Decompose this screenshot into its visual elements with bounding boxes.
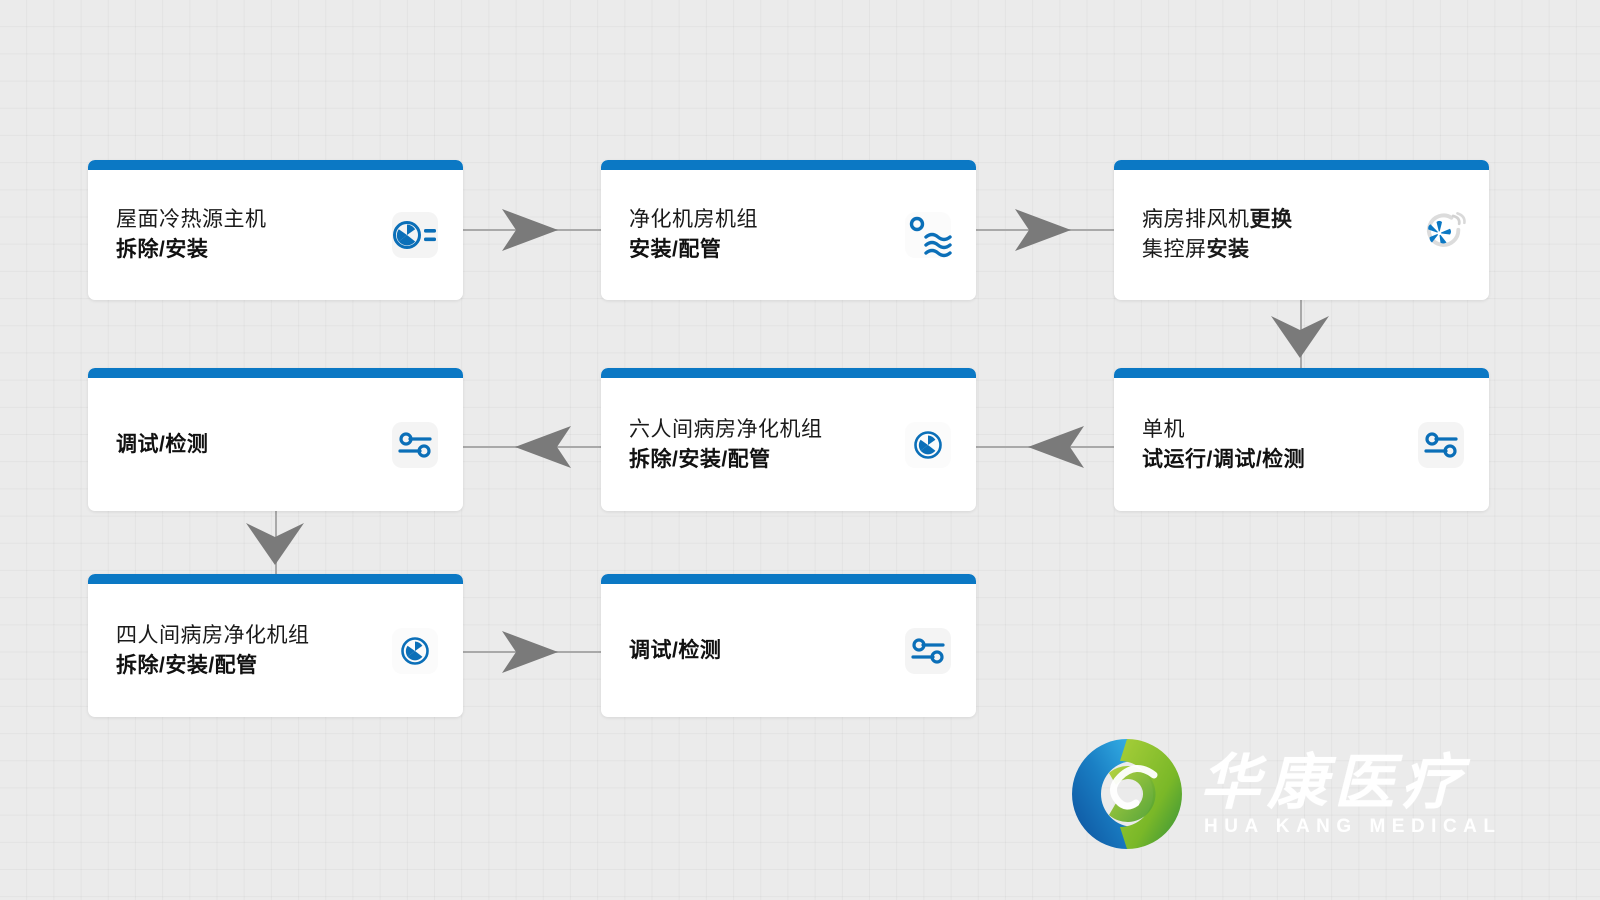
card-body: 单机 试运行/调试/检测 (1114, 378, 1489, 511)
card-text: 单机 试运行/调试/检测 (1142, 415, 1305, 475)
card-text: 病房排风机更换 集控屏安装 (1142, 205, 1293, 265)
fan-circle-equals-icon (389, 209, 441, 261)
logo-name-en: HUA KANG MEDICAL (1204, 816, 1502, 838)
sliders-icon (1415, 419, 1467, 471)
card-top-bar (1114, 160, 1489, 170)
card-ward-exhaust-fan-replacement[interactable]: 病房排风机更换 集控屏安装 (1114, 160, 1489, 300)
connector-card7-to-card8-arrowhead (500, 629, 564, 675)
card-line-secondary: 调试/检测 (629, 636, 721, 666)
logo-text: 华康医疗 HUA KANG MEDICAL (1200, 751, 1502, 838)
card-line-secondary: 试运行/调试/检测 (1142, 445, 1305, 475)
card-line-primary: 单机 (1142, 415, 1305, 445)
company-logo: 华康医疗 HUA KANG MEDICAL (1068, 735, 1502, 853)
card-roof-cold-heat-source-host[interactable]: 屋面冷热源主机 拆除/安装 (88, 160, 463, 300)
connector-card2-to-card3-arrowhead (1013, 207, 1077, 253)
connector-card5-to-card6-arrowhead (509, 424, 573, 470)
sliders-icon (902, 625, 954, 677)
card-debug-and-test-row3[interactable]: 调试/检测 (601, 574, 976, 717)
card-line-secondary: 拆除/安装/配管 (116, 651, 310, 681)
card-line-secondary-regular: 集控屏 (1142, 238, 1207, 261)
connector-card6-to-card7-arrowhead (244, 521, 306, 569)
card-top-bar (88, 160, 463, 170)
sliders-icon (389, 419, 441, 471)
card-body: 调试/检测 (601, 584, 976, 717)
card-body: 四人间病房净化机组 拆除/安装/配管 (88, 584, 463, 717)
card-six-bed-ward-purification-unit[interactable]: 六人间病房净化机组 拆除/安装/配管 (601, 368, 976, 511)
card-top-bar (601, 368, 976, 378)
card-body: 调试/检测 (88, 378, 463, 511)
fan-circle-icon (902, 419, 954, 471)
card-text: 四人间病房净化机组 拆除/安装/配管 (116, 621, 310, 681)
card-line-secondary-bold: 安装 (1207, 238, 1250, 261)
card-text: 调试/检测 (629, 636, 721, 666)
card-top-bar (88, 368, 463, 378)
card-line-primary: 屋面冷热源主机 (116, 205, 267, 235)
card-top-bar (88, 574, 463, 584)
card-line-primary-regular: 病房排风机 (1142, 208, 1250, 231)
card-text: 调试/检测 (116, 430, 208, 460)
connector-card3-to-card4-arrowhead (1269, 314, 1331, 362)
card-text: 屋面冷热源主机 拆除/安装 (116, 205, 267, 265)
card-line-secondary: 拆除/安装 (116, 235, 267, 265)
connector-card4-to-card5-arrowhead (1022, 424, 1086, 470)
logo-mark-icon (1068, 735, 1186, 853)
flowchart-canvas: 屋面冷热源主机 拆除/安装 净化机房机组 安装/配管 (0, 0, 1600, 900)
card-top-bar (1114, 368, 1489, 378)
card-line-primary-bold: 更换 (1250, 208, 1293, 231)
card-purification-machine-room-unit[interactable]: 净化机房机组 安装/配管 (601, 160, 976, 300)
card-line-primary: 净化机房机组 (629, 205, 758, 235)
card-body: 病房排风机更换 集控屏安装 (1114, 170, 1489, 300)
card-line-secondary: 集控屏安装 (1142, 235, 1293, 265)
card-body: 屋面冷热源主机 拆除/安装 (88, 170, 463, 300)
card-body: 净化机房机组 安装/配管 (601, 170, 976, 300)
card-line-primary: 四人间病房净化机组 (116, 621, 310, 651)
card-debug-and-test-row2[interactable]: 调试/检测 (88, 368, 463, 511)
card-four-bed-ward-purification-unit[interactable]: 四人间病房净化机组 拆除/安装/配管 (88, 574, 463, 717)
logo-name-cn: 华康医疗 (1200, 751, 1502, 814)
circle-waves-icon (902, 209, 954, 261)
card-line-secondary: 安装/配管 (629, 235, 758, 265)
card-line-primary: 六人间病房净化机组 (629, 415, 823, 445)
card-text: 净化机房机组 安装/配管 (629, 205, 758, 265)
card-body: 六人间病房净化机组 拆除/安装/配管 (601, 378, 976, 511)
card-line-secondary: 拆除/安装/配管 (629, 445, 823, 475)
fan-circle-icon (389, 625, 441, 677)
card-top-bar (601, 574, 976, 584)
card-line-secondary: 调试/检测 (116, 430, 208, 460)
card-line-primary: 病房排风机更换 (1142, 205, 1293, 235)
card-text: 六人间病房净化机组 拆除/安装/配管 (629, 415, 823, 475)
card-single-machine-trial-run[interactable]: 单机 试运行/调试/检测 (1114, 368, 1489, 511)
propeller-wind-icon (1415, 209, 1467, 261)
connector-card1-to-card2-arrowhead (500, 207, 564, 253)
card-top-bar (601, 160, 976, 170)
